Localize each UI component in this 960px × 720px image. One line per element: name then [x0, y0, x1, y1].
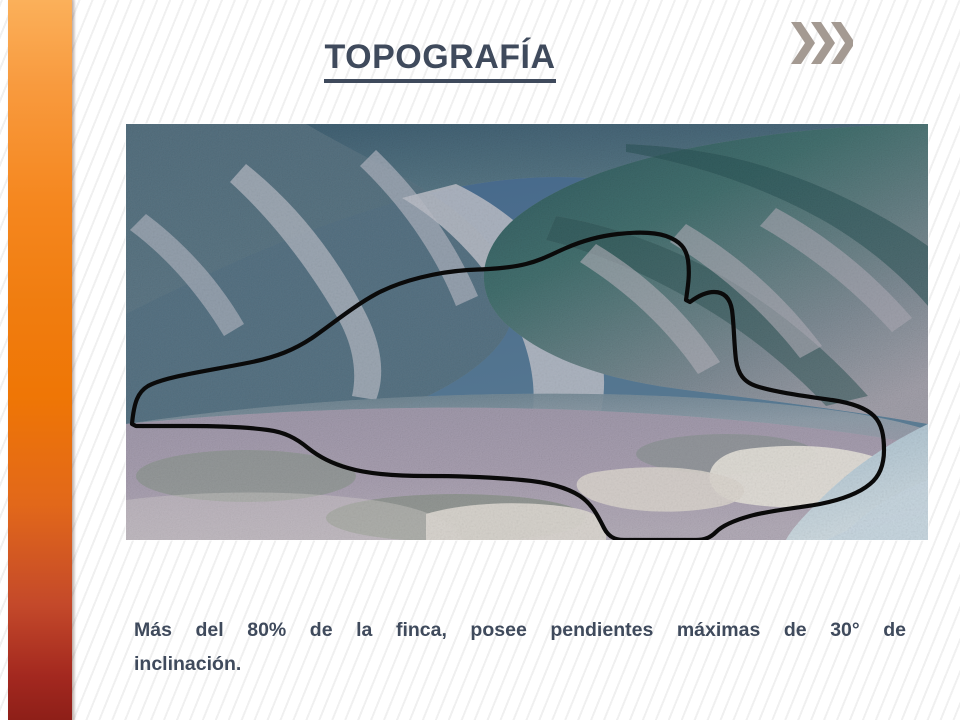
caption-line-1: Más del 80% de la finca, posee pendiente…: [134, 614, 906, 648]
aerial-topography-photo: [126, 124, 928, 540]
double-chevron-right-icon: [789, 20, 853, 66]
page-title: TOPOGRAFÍA: [324, 40, 555, 83]
caption-line-2: inclinación.: [134, 648, 906, 682]
caption-text: Más del 80% de la finca, posee pendiente…: [134, 614, 906, 681]
orange-gradient-bar: [8, 0, 72, 720]
page-title-container: TOPOGRAFÍA: [120, 40, 760, 83]
accent-bar-shadow: [72, 0, 76, 720]
slide-canvas: TOPOGRAFÍA: [0, 0, 960, 720]
